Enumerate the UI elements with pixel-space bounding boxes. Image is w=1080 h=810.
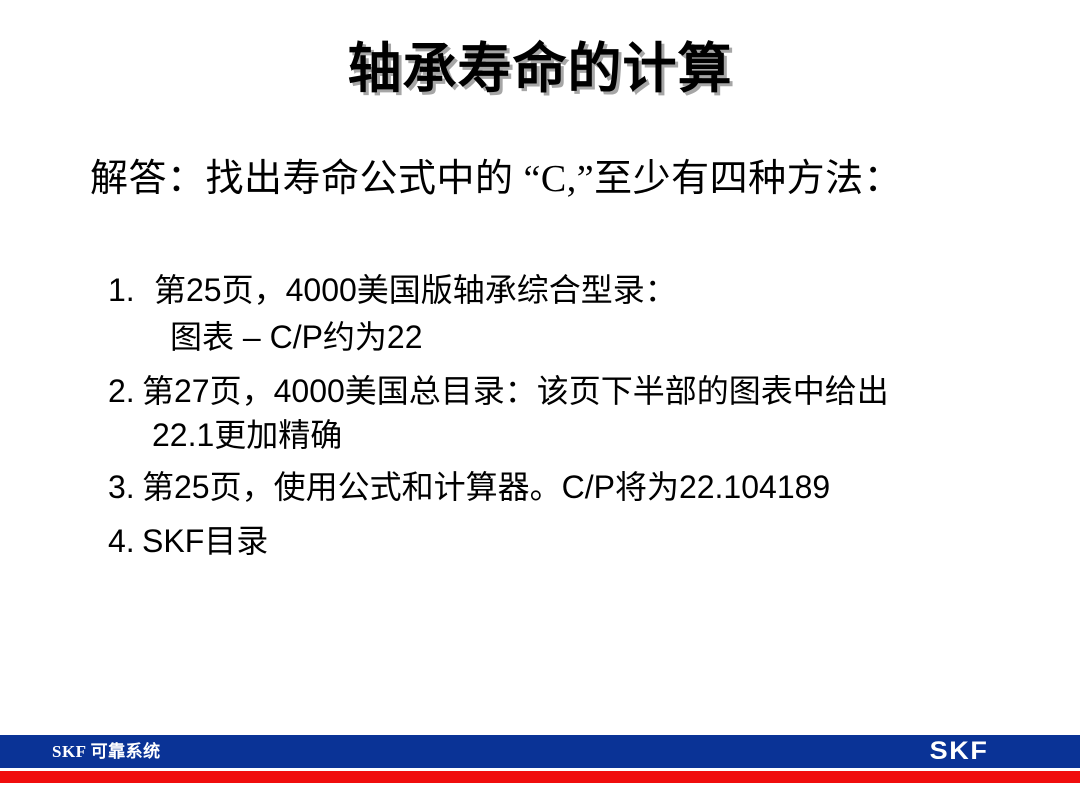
footer-label: SKF 可靠系统	[52, 740, 161, 763]
numbered-list: 1. 第25页，4000美国版轴承综合型录： 图表 – C/P约为22 2. 第…	[108, 268, 1008, 563]
list-item-main-text: 第25页，使用公式和计算器。C/P将为22.104189	[142, 465, 1008, 509]
list-item-content: 第25页，使用公式和计算器。C/P将为22.104189	[142, 465, 1008, 509]
footer-red-bar	[0, 771, 1080, 783]
footer-blue-bar	[0, 735, 1080, 768]
footer-bottom-margin	[0, 783, 1080, 810]
skf-logo: SKF	[929, 737, 988, 765]
page-title: 轴承寿命的计算	[0, 38, 1080, 100]
list-item-marker: 1.	[108, 268, 154, 312]
list-item-marker: 4.	[108, 519, 142, 563]
list-item-content: 第27页，4000美国总目录：该页下半部的图表中给出 22.1更加精确	[142, 369, 1008, 457]
list-item: 2. 第27页，4000美国总目录：该页下半部的图表中给出 22.1更加精确	[108, 369, 1008, 457]
list-item-main-text: 第25页，4000美国版轴承综合型录：	[154, 268, 1008, 312]
list-item-main-text: SKF目录	[142, 519, 1008, 563]
list-item-main-text: 第27页，4000美国总目录：该页下半部的图表中给出	[142, 369, 1008, 413]
list-item-sub-text: 22.1更加精确	[142, 413, 1008, 457]
list-item: 3. 第25页，使用公式和计算器。C/P将为22.104189	[108, 465, 1008, 509]
list-item: 4. SKF目录	[108, 519, 1008, 563]
list-item: 1. 第25页，4000美国版轴承综合型录： 图表 – C/P约为22	[108, 268, 1008, 359]
slide-subtitle: 解答：找出寿命公式中的 “C,”至少有四种方法：	[90, 154, 1010, 204]
slide-canvas: 轴承寿命的计算 解答：找出寿命公式中的 “C,”至少有四种方法： 1. 第25页…	[0, 0, 1080, 810]
list-item-marker: 2.	[108, 369, 142, 413]
list-item-content: 第25页，4000美国版轴承综合型录： 图表 – C/P约为22	[154, 268, 1008, 359]
list-item-content: SKF目录	[142, 519, 1008, 563]
list-item-sub-text: 图表 – C/P约为22	[154, 315, 1008, 359]
list-item-marker: 3.	[108, 465, 142, 509]
